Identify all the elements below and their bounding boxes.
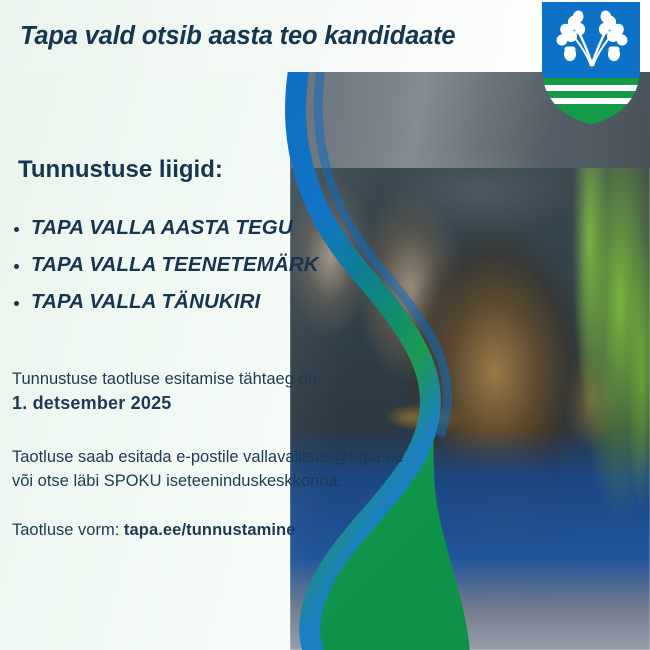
form-label: Taotluse vorm:	[12, 521, 119, 539]
crest-stripe-white-2	[542, 98, 640, 104]
award-statuettes-photo	[290, 72, 650, 650]
form-url[interactable]: tapa.ee/tunnustamine	[124, 521, 296, 539]
crest-stripe-green-2	[542, 91, 640, 98]
award-types-list: TAPA VALLA AASTA TEGU TAPA VALLA TEENETE…	[10, 216, 319, 327]
form-link-block: Taotluse vorm: tapa.ee/tunnustamine	[12, 521, 296, 540]
crest-stripe-green-1	[542, 78, 640, 85]
crest-stripe-white-1	[542, 85, 640, 91]
poster-title: Tapa vald otsib aasta teo kandidaate	[20, 22, 455, 51]
crest-stripe-green-3	[542, 104, 640, 124]
submission-line-1: Taotluse saab esitada e-postile vallaval…	[12, 446, 404, 470]
deadline-date: 1. detsember 2025	[12, 391, 317, 417]
tapa-vald-coat-of-arms-icon	[542, 2, 640, 124]
submission-line-2: või otse läbi SPOKU iseteeninduskeskkonn…	[12, 470, 404, 494]
award-type-item: TAPA VALLA TÄNUKIRI	[10, 290, 319, 314]
deadline-block: Tunnustuse taotluse esitamise tähtaeg on…	[12, 368, 317, 417]
award-type-item: TAPA VALLA AASTA TEGU	[10, 216, 319, 240]
deadline-label: Tunnustuse taotluse esitamise tähtaeg on	[12, 370, 317, 388]
poster-canvas: Tapa vald otsib aasta teo kandidaate	[0, 0, 650, 650]
submission-instructions: Taotluse saab esitada e-postile vallaval…	[12, 446, 404, 494]
crest-acorn-left	[565, 48, 575, 61]
award-type-item: TAPA VALLA TEENETEMÄRK	[10, 253, 319, 277]
crest-acorn-right	[609, 48, 619, 61]
awards-subheading: Tunnustuse liigid:	[18, 156, 223, 184]
